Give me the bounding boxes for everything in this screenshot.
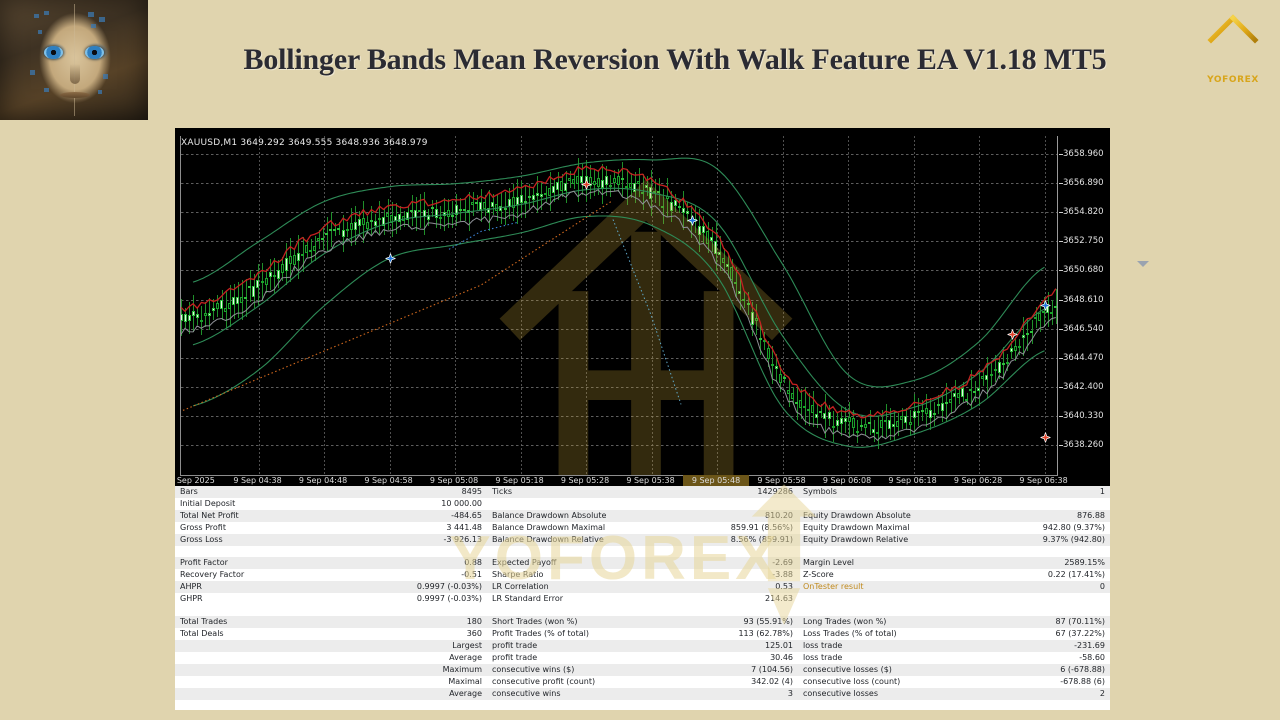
cell-c6: 1 xyxy=(988,486,1110,498)
cell-c2: Average xyxy=(385,688,487,700)
cell-c3: Balance Drawdown Absolute xyxy=(487,510,675,522)
time-axis-label: 9 Sep 06:08 xyxy=(823,476,871,485)
chart-top-triangle-marker xyxy=(1137,261,1149,267)
sell-trade-marker[interactable] xyxy=(582,176,591,185)
cell-c4: 113 (62.78%) xyxy=(675,628,798,640)
cell-c2 xyxy=(385,605,487,616)
cell-c6: 942.80 (9.37%) xyxy=(988,522,1110,534)
table-row: AHPR0.9997 (-0.03%)LR Correlation0.53OnT… xyxy=(175,581,1110,593)
brand-wordmark: YOFOREX xyxy=(1207,75,1259,85)
breakout-dotted-line xyxy=(613,220,681,405)
cell-c4: 125.01 xyxy=(675,640,798,652)
sell-trade-marker[interactable] xyxy=(1040,430,1049,439)
lower-envelope-line xyxy=(181,190,1056,441)
cell-c5: Equity Drawdown Maximal xyxy=(798,522,988,534)
cell-c4 xyxy=(675,546,798,557)
page-header: Bollinger Bands Mean Reversion With Walk… xyxy=(0,0,1280,120)
cell-c3: Balance Drawdown Relative xyxy=(487,534,675,546)
price-axis-label: 3656.890 xyxy=(1063,178,1104,188)
cell-c6: 0.22 (17.41%) xyxy=(988,569,1110,581)
cell-c1: Total Net Profit xyxy=(175,510,385,522)
cell-c6 xyxy=(988,605,1110,616)
chart-plot-area[interactable] xyxy=(180,136,1058,476)
table-row xyxy=(175,605,1110,616)
cell-c4: 1429286 xyxy=(675,486,798,498)
table-row: Gross Profit3 441.48Balance Drawdown Max… xyxy=(175,522,1110,534)
time-axis-label: 9 Sep 05:58 xyxy=(757,476,805,485)
table-row xyxy=(175,546,1110,557)
cell-c6 xyxy=(988,593,1110,605)
bollinger-band-line xyxy=(193,188,1045,416)
cell-c2: 8495 xyxy=(385,486,487,498)
cell-c2: Maximal xyxy=(385,676,487,688)
avatar-mouth xyxy=(60,92,90,98)
price-axis-tick xyxy=(1059,183,1063,184)
price-axis-tick xyxy=(1059,445,1063,446)
price-axis-label: 3638.260 xyxy=(1063,440,1104,450)
time-axis-label: 9 Sep 04:58 xyxy=(364,476,412,485)
price-axis-tick xyxy=(1059,270,1063,271)
cell-c6: 876.88 xyxy=(988,510,1110,522)
price-axis-label: 3658.960 xyxy=(1063,149,1104,159)
cell-c5: Equity Drawdown Absolute xyxy=(798,510,988,522)
cell-c3: profit trade xyxy=(487,652,675,664)
cell-c6: 2 xyxy=(988,688,1110,700)
cell-c5 xyxy=(798,605,988,616)
price-axis: 3658.9603656.8903654.8203652.7503650.680… xyxy=(1059,136,1110,476)
cell-c2: 0.88 xyxy=(385,557,487,569)
cell-c4: 30.46 xyxy=(675,652,798,664)
avatar-left-eye xyxy=(44,46,63,59)
cell-c3 xyxy=(487,546,675,557)
price-axis-label: 3642.400 xyxy=(1063,382,1104,392)
price-axis-label: 3652.750 xyxy=(1063,236,1104,246)
buy-trade-marker[interactable] xyxy=(385,251,394,260)
price-axis-tick xyxy=(1059,329,1063,330)
cell-c6: 9.37% (942.80) xyxy=(988,534,1110,546)
avatar xyxy=(0,0,148,120)
price-axis-label: 3654.820 xyxy=(1063,207,1104,217)
cell-c5: Z-Score xyxy=(798,569,988,581)
avatar-circuit-dot xyxy=(91,24,96,28)
cell-c5: loss trade xyxy=(798,652,988,664)
cell-c3: consecutive wins ($) xyxy=(487,664,675,676)
cell-c5: Symbols xyxy=(798,486,988,498)
cell-c4: -2.69 xyxy=(675,557,798,569)
cell-c4: 0.53 xyxy=(675,581,798,593)
time-axis: 9 Sep 20259 Sep 04:389 Sep 04:489 Sep 04… xyxy=(180,476,1058,486)
table-row: Largestprofit trade125.01loss trade-231.… xyxy=(175,640,1110,652)
sell-trade-marker[interactable] xyxy=(1008,327,1017,336)
price-axis-label: 3648.610 xyxy=(1063,295,1104,305)
table-row: Total Net Profit-484.65Balance Drawdown … xyxy=(175,510,1110,522)
price-axis-label: 3644.470 xyxy=(1063,353,1104,363)
buy-trade-marker[interactable] xyxy=(688,212,697,221)
buy-trade-marker[interactable] xyxy=(1040,297,1049,306)
cell-c4: 810.20 xyxy=(675,510,798,522)
cell-c3: consecutive profit (count) xyxy=(487,676,675,688)
cell-c6: 6 (-678.88) xyxy=(988,664,1110,676)
price-axis-label: 3646.540 xyxy=(1063,324,1104,334)
time-axis-label: 9 Sep 05:28 xyxy=(561,476,609,485)
table-row: Maximumconsecutive wins ($)7 (104.56)con… xyxy=(175,664,1110,676)
cell-c1: Initial Deposit xyxy=(175,498,385,510)
table-row: Initial Deposit10 000.00 xyxy=(175,498,1110,510)
table-row: Gross Loss-3 926.13Balance Drawdown Rela… xyxy=(175,534,1110,546)
table-row: Bars8495Ticks1429286Symbols1 xyxy=(175,486,1110,498)
cell-c6: -678.88 (6) xyxy=(988,676,1110,688)
cell-c2: 0.9997 (-0.03%) xyxy=(385,581,487,593)
table-row: Recovery Factor-0.51Sharpe Ratio-3.88Z-S… xyxy=(175,569,1110,581)
avatar-circuit-dot xyxy=(103,74,108,79)
cell-c6: 87 (70.11%) xyxy=(988,616,1110,628)
time-axis-label: 9 Sep 04:48 xyxy=(299,476,347,485)
table-row: Maximalconsecutive profit (count)342.02 … xyxy=(175,676,1110,688)
page-title: Bollinger Bands Mean Reversion With Walk… xyxy=(160,0,1190,120)
cell-c5: OnTester result xyxy=(798,581,988,593)
price-axis-tick xyxy=(1059,241,1063,242)
avatar-circuit-dot xyxy=(98,90,102,94)
table-row: Averageconsecutive wins3consecutive loss… xyxy=(175,688,1110,700)
cell-c1: Total Deals xyxy=(175,628,385,640)
price-axis-tick xyxy=(1059,300,1063,301)
chart-symbol-header: XAUUSD,M1 3649.292 3649.555 3648.936 364… xyxy=(181,138,428,148)
price-axis-tick xyxy=(1059,154,1063,155)
cell-c6: -58.60 xyxy=(988,652,1110,664)
cell-c1 xyxy=(175,546,385,557)
cell-c1: Total Trades xyxy=(175,616,385,628)
cell-c1: Recovery Factor xyxy=(175,569,385,581)
price-axis-label: 3640.330 xyxy=(1063,411,1104,421)
avatar-circuit-dot xyxy=(44,11,49,15)
cell-c1: Gross Profit xyxy=(175,522,385,534)
time-axis-label: 9 Sep 04:38 xyxy=(233,476,281,485)
cell-c2: 180 xyxy=(385,616,487,628)
cell-c3: consecutive wins xyxy=(487,688,675,700)
price-axis-tick xyxy=(1059,416,1063,417)
cell-c4: 859.91 (8.56%) xyxy=(675,522,798,534)
cell-c2: -3 926.13 xyxy=(385,534,487,546)
cell-c4 xyxy=(675,498,798,510)
time-axis-label: 9 Sep 06:28 xyxy=(954,476,1002,485)
time-axis-label: 9 Sep 2025 xyxy=(175,476,215,485)
cell-c3: Sharpe Ratio xyxy=(487,569,675,581)
chart-lines xyxy=(181,136,1058,476)
time-axis-label: 9 Sep 05:38 xyxy=(626,476,674,485)
table-row: Total Deals360Profit Trades (% of total)… xyxy=(175,628,1110,640)
strategy-tester-report: XAUUSD,M1 3649.292 3649.555 3648.936 364… xyxy=(175,128,1110,710)
cell-c4: 8.56% (859.91) xyxy=(675,534,798,546)
cell-c1 xyxy=(175,640,385,652)
cell-c6: 67 (37.22%) xyxy=(988,628,1110,640)
cell-c5: loss trade xyxy=(798,640,988,652)
cell-c1 xyxy=(175,664,385,676)
cell-c4: -3.88 xyxy=(675,569,798,581)
cell-c1: Gross Loss xyxy=(175,534,385,546)
statistics-grid: Bars8495Ticks1429286Symbols1Initial Depo… xyxy=(175,486,1110,700)
brand-logo: YOFOREX xyxy=(1200,14,1266,98)
cell-c2: Maximum xyxy=(385,664,487,676)
cell-c2: -484.65 xyxy=(385,510,487,522)
cell-c3 xyxy=(487,498,675,510)
table-row: Averageprofit trade30.46loss trade-58.60 xyxy=(175,652,1110,664)
table-row: Profit Factor0.88Expected Payoff-2.69Mar… xyxy=(175,557,1110,569)
cell-c1: Bars xyxy=(175,486,385,498)
cell-c4: 3 xyxy=(675,688,798,700)
time-axis-label: 9 Sep 05:08 xyxy=(430,476,478,485)
cell-c5: Equity Drawdown Relative xyxy=(798,534,988,546)
avatar-right-eye xyxy=(85,46,104,59)
price-axis-label: 3650.680 xyxy=(1063,265,1104,275)
cell-c3: Expected Payoff xyxy=(487,557,675,569)
avatar-seam xyxy=(74,4,75,116)
cell-c6: 2589.15% xyxy=(988,557,1110,569)
cell-c5: Margin Level xyxy=(798,557,988,569)
cell-c5 xyxy=(798,498,988,510)
cell-c3: LR Correlation xyxy=(487,581,675,593)
cell-c1 xyxy=(175,676,385,688)
cell-c1: AHPR xyxy=(175,581,385,593)
price-chart[interactable]: XAUUSD,M1 3649.292 3649.555 3648.936 364… xyxy=(175,128,1110,486)
cell-c3 xyxy=(487,605,675,616)
price-axis-tick xyxy=(1059,212,1063,213)
cell-c4: 93 (55.91%) xyxy=(675,616,798,628)
avatar-circuit-dot xyxy=(30,70,35,75)
avatar-nose xyxy=(70,64,80,84)
cell-c3: LR Standard Error xyxy=(487,593,675,605)
cell-c1 xyxy=(175,652,385,664)
cell-c6: -231.69 xyxy=(988,640,1110,652)
cell-c5: consecutive losses ($) xyxy=(798,664,988,676)
cell-c5 xyxy=(798,546,988,557)
cell-c5: consecutive losses xyxy=(798,688,988,700)
cell-c2: 0.9997 (-0.03%) xyxy=(385,593,487,605)
time-axis-label: 9 Sep 06:18 xyxy=(888,476,936,485)
price-axis-tick xyxy=(1059,358,1063,359)
cell-c2: 3 441.48 xyxy=(385,522,487,534)
cell-c4: 214.63 xyxy=(675,593,798,605)
cell-c4: 342.02 (4) xyxy=(675,676,798,688)
cell-c5: consecutive loss (count) xyxy=(798,676,988,688)
time-axis-label: 9 Sep 06:38 xyxy=(1019,476,1067,485)
cell-c4 xyxy=(675,605,798,616)
time-axis-label: 9 Sep 05:48 xyxy=(692,476,740,485)
cell-c5 xyxy=(798,593,988,605)
moving-average-line xyxy=(181,166,1056,418)
cell-c6 xyxy=(988,498,1110,510)
cell-c3: Ticks xyxy=(487,486,675,498)
cell-c5: Long Trades (won %) xyxy=(798,616,988,628)
cell-c1: Profit Factor xyxy=(175,557,385,569)
cell-c1 xyxy=(175,688,385,700)
cell-c3: Short Trades (won %) xyxy=(487,616,675,628)
avatar-circuit-dot xyxy=(34,14,39,18)
trend-dotted-line xyxy=(183,202,611,411)
avatar-circuit-dot xyxy=(88,12,94,17)
price-axis-tick xyxy=(1059,387,1063,388)
cell-c3: profit trade xyxy=(487,640,675,652)
cell-c2: Largest xyxy=(385,640,487,652)
cell-c2: -0.51 xyxy=(385,569,487,581)
avatar-circuit-dot xyxy=(99,17,105,22)
cell-c5: Loss Trades (% of total) xyxy=(798,628,988,640)
cell-c6: 0 xyxy=(988,581,1110,593)
time-axis-label: 9 Sep 05:18 xyxy=(495,476,543,485)
cell-c3: Profit Trades (% of total) xyxy=(487,628,675,640)
cell-c4: 7 (104.56) xyxy=(675,664,798,676)
table-row: Total Trades180Short Trades (won %)93 (5… xyxy=(175,616,1110,628)
table-row: GHPR0.9997 (-0.03%)LR Standard Error214.… xyxy=(175,593,1110,605)
cell-c3: Balance Drawdown Maximal xyxy=(487,522,675,534)
cell-c2: Average xyxy=(385,652,487,664)
cell-c2 xyxy=(385,546,487,557)
avatar-circuit-dot xyxy=(38,30,42,34)
cell-c2: 360 xyxy=(385,628,487,640)
avatar-circuit-dot xyxy=(44,88,49,92)
statistics-table: YOFOREX Bars8495Ticks1429286Symbols1Init… xyxy=(175,486,1110,710)
yoforex-arrow-icon xyxy=(1205,14,1261,74)
cell-c6 xyxy=(988,546,1110,557)
cell-c1 xyxy=(175,605,385,616)
cell-c2: 10 000.00 xyxy=(385,498,487,510)
cell-c1: GHPR xyxy=(175,593,385,605)
